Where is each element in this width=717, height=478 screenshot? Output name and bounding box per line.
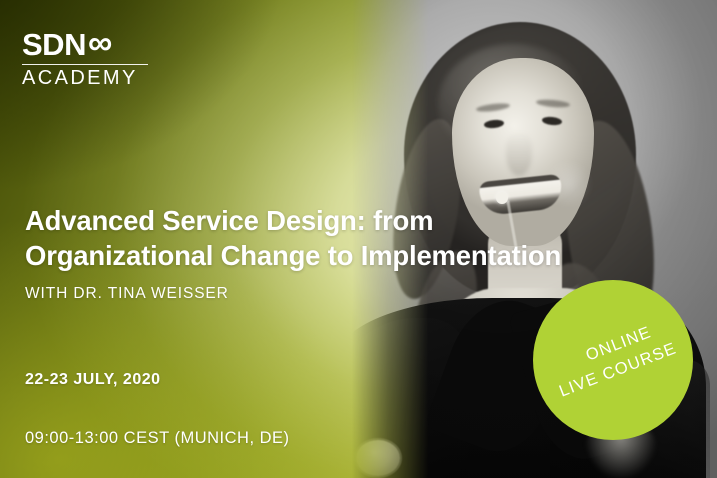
course-times: 09:00-13:00 CEST (MUNICH, DE) [25,429,290,448]
logo-subtitle: ACADEMY [22,68,150,88]
infinity-icon: ∞ [88,26,111,60]
logo-wordmark: SDN [22,29,86,60]
page-title-line-1: Advanced Service Design: from [25,204,715,238]
logo-wordmark-row: SDN ∞ [22,28,150,60]
course-promo-banner: SDN ∞ ACADEMY Advanced Service Design: f… [0,0,717,478]
page-title-line-2: Organizational Change to Implementation [25,239,715,273]
page-title: Advanced Service Design: from Organizati… [25,204,715,272]
presenter-name: WITH DR. TINA WEISSER [25,285,229,303]
logo-divider [22,64,148,65]
online-live-course-badge: ONLINE LIVE COURSE [533,280,693,440]
course-dates: 22-23 JULY, 2020 [25,371,161,389]
sdn-academy-logo[interactable]: SDN ∞ ACADEMY [22,28,150,88]
